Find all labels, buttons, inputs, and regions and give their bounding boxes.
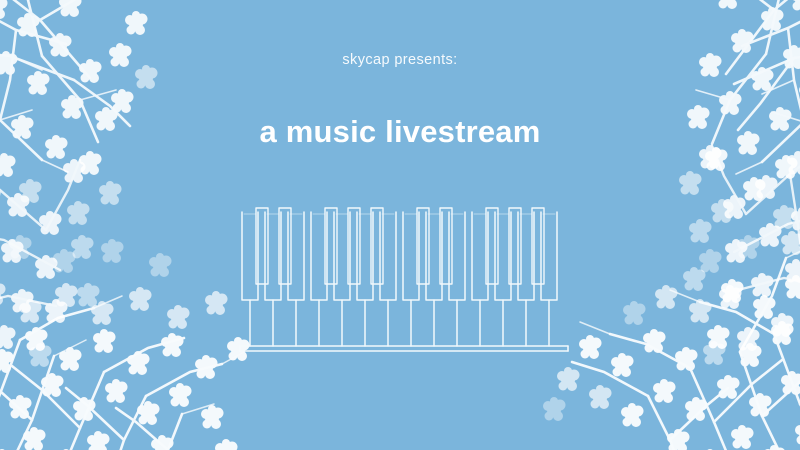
title-text-block: skycap presents: a music livestream xyxy=(0,0,800,147)
livestream-title-card: skycap presents: a music livestream xyxy=(0,0,800,450)
frost-branch-bottom-left-icon xyxy=(0,200,254,450)
frost-branch-right-edge-icon xyxy=(670,110,800,370)
piano-keyboard-illustration xyxy=(238,204,572,356)
frost-branch-bottom-right-icon xyxy=(540,204,800,450)
frost-branch-left-edge-icon xyxy=(0,120,130,370)
page-title: a music livestream xyxy=(0,116,800,147)
presents-line: skycap presents: xyxy=(0,53,800,68)
